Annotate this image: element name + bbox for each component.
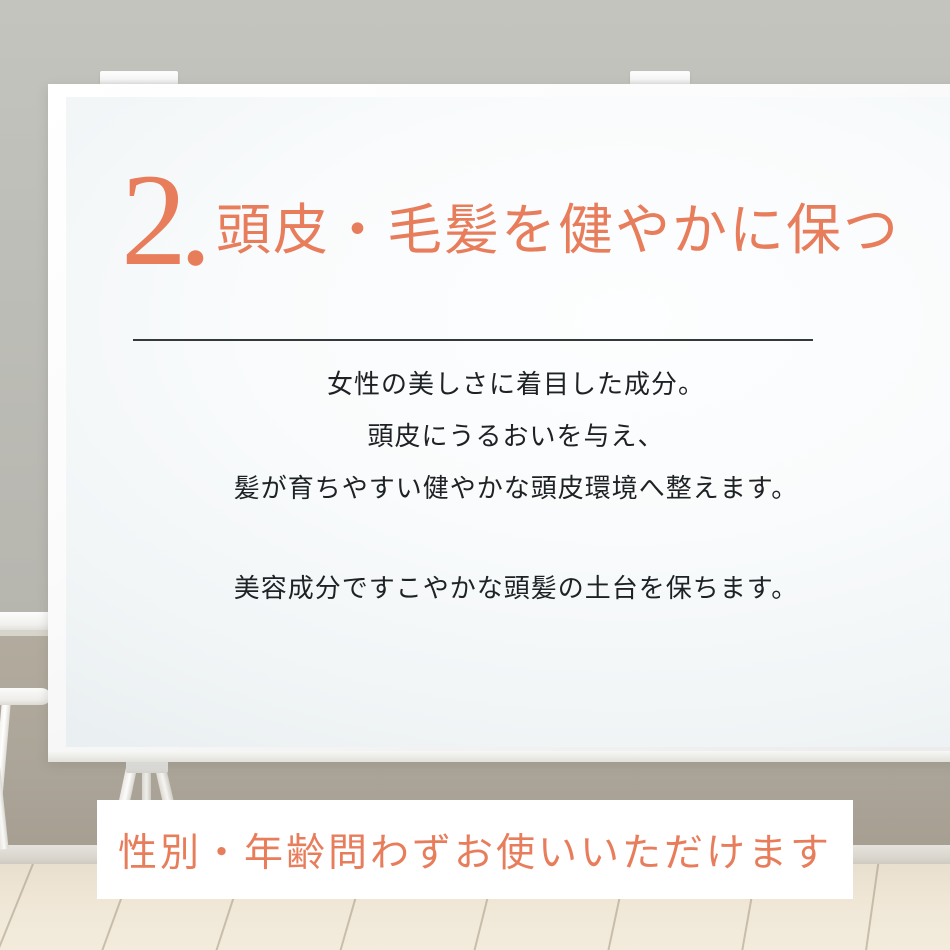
bottom-banner: 性別・年齢問わずお使いいただけます bbox=[97, 800, 853, 899]
heading-title: 頭皮・毛髪を健やかに保つ bbox=[216, 203, 900, 272]
body-line: 頭皮にうるおいを与え、 bbox=[66, 411, 950, 463]
banner-text: 性別・年齢問わずお使いいただけます bbox=[118, 822, 832, 878]
body-line: 女性の美しさに着目した成分。 bbox=[66, 359, 950, 411]
whiteboard-content: 2 . 頭皮・毛髪を健やかに保つ 女性の美しさに着目した成分。 頭皮にうるおいを… bbox=[66, 97, 950, 747]
heading-divider bbox=[133, 339, 813, 341]
step-number-dot: . bbox=[179, 169, 212, 272]
body-text-block: 女性の美しさに着目した成分。 頭皮にうるおいを与え、 髪が育ちやすい健やかな頭皮… bbox=[66, 359, 950, 615]
body-closing-line: 美容成分ですこやかな頭髪の土台を保ちます。 bbox=[66, 563, 950, 615]
white-stool-seat bbox=[0, 688, 50, 705]
floor-plank-line bbox=[859, 864, 882, 950]
body-line: 髪が育ちやすい健やかな頭皮環境へ整えます。 bbox=[66, 463, 950, 515]
step-heading: 2 . 頭皮・毛髪を健やかに保つ bbox=[121, 169, 900, 272]
body-spacer bbox=[66, 515, 950, 563]
floor-plank-line bbox=[0, 864, 42, 950]
scene-root: 2 . 頭皮・毛髪を健やかに保つ 女性の美しさに着目した成分。 頭皮にうるおいを… bbox=[0, 0, 950, 950]
step-number: 2 bbox=[121, 169, 185, 272]
